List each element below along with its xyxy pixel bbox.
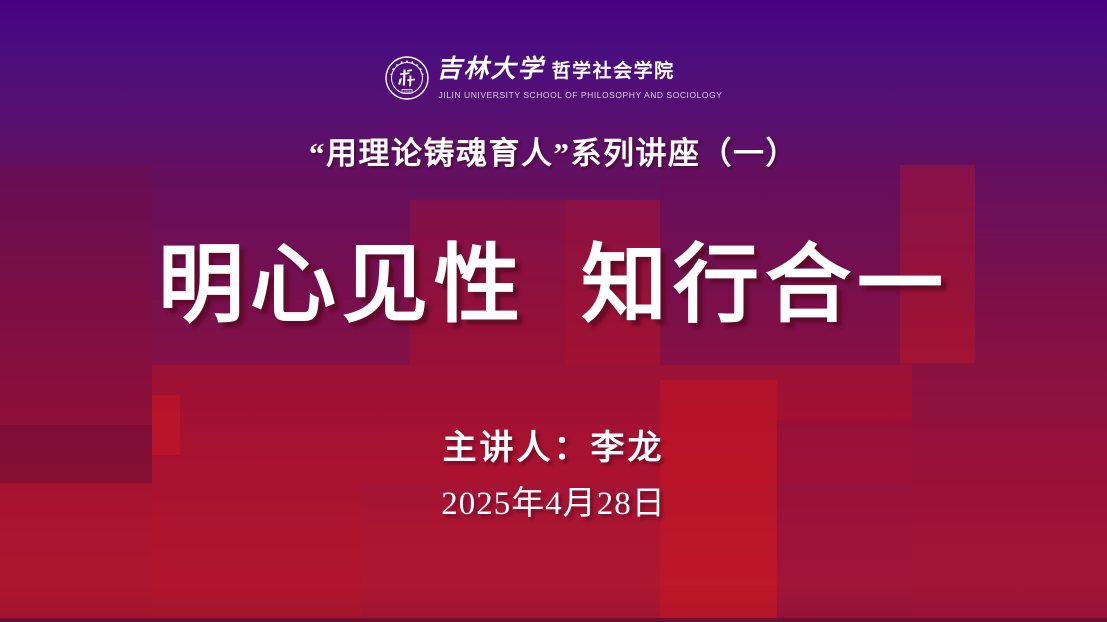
logo-school-name: 哲学社会学院 xyxy=(552,62,675,81)
seal-year-text: 1958 xyxy=(403,90,410,94)
speaker-line: 主讲人：李龙 xyxy=(0,420,1107,469)
lecture-series-title: “用理论铸魂育人”系列讲座（一） xyxy=(0,128,1107,173)
lecture-headline: 明心见性 知行合一 xyxy=(0,240,1107,330)
bottom-edge-strip xyxy=(0,618,1107,622)
institution-logo-lockup: 1958 吉林大学 哲学社会学院 JILIN UNIVERSITY SCHOOL… xyxy=(0,55,1107,100)
logo-university-name: 吉林大学 xyxy=(437,56,545,81)
lecture-date: 2025年4月28日 xyxy=(0,476,1107,524)
jilin-university-seal-icon: 1958 xyxy=(385,56,429,100)
logo-english-name: JILIN UNIVERSITY SCHOOL OF PHILOSOPHY AN… xyxy=(439,90,723,100)
lecture-poster-slide: 1958 吉林大学 哲学社会学院 JILIN UNIVERSITY SCHOOL… xyxy=(0,0,1107,622)
